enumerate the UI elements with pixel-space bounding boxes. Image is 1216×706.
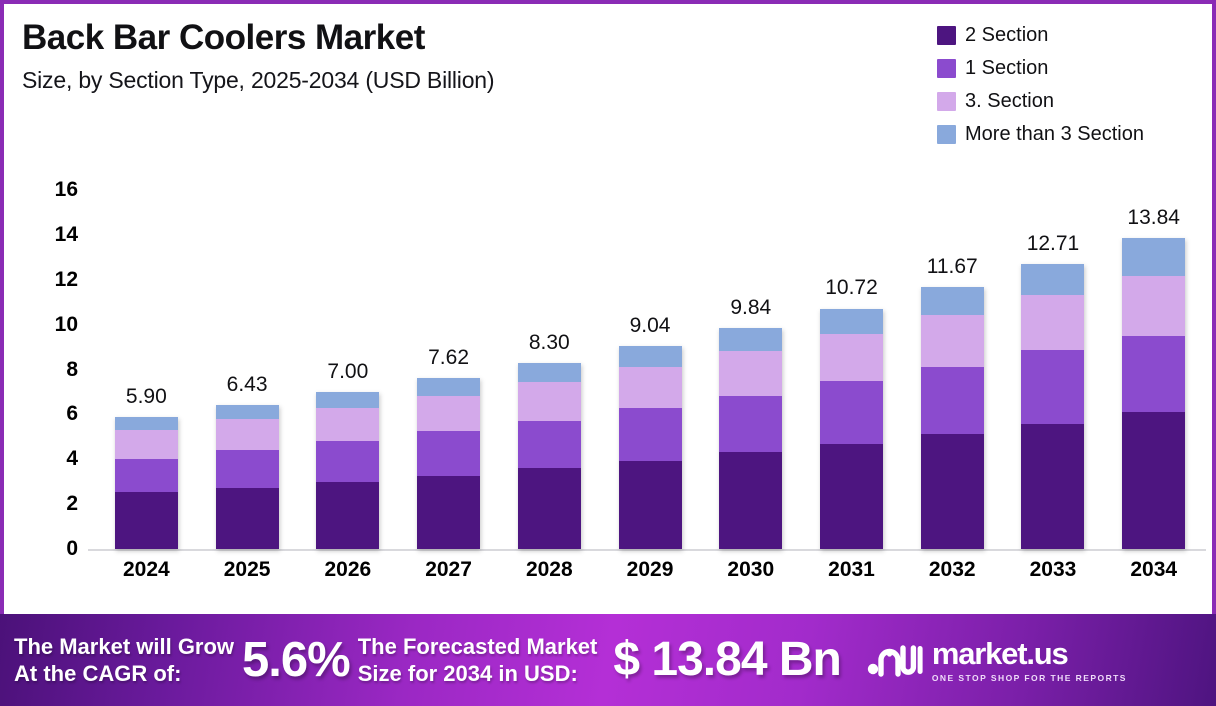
- bar-segment[interactable]: [820, 381, 883, 443]
- bar-segment[interactable]: [719, 452, 782, 549]
- cagr-caption-line1: The Market will Grow: [14, 633, 234, 660]
- bar-stack[interactable]: [1021, 264, 1084, 549]
- bar-segment[interactable]: [921, 367, 984, 434]
- bar-total-label: 6.43: [197, 373, 298, 397]
- y-axis-tick-label: 10: [55, 313, 78, 337]
- x-axis-tick-label: 2024: [96, 558, 197, 582]
- bar-total-label: 13.84: [1103, 206, 1204, 230]
- bar-column[interactable]: 7.00: [297, 190, 398, 549]
- bar-total-label: 9.04: [600, 314, 701, 338]
- y-axis-tick-label: 6: [66, 402, 78, 426]
- legend-item[interactable]: 2 Section: [937, 24, 1048, 47]
- y-axis-tick-label: 14: [55, 223, 78, 247]
- bar-total-label: 12.71: [1003, 232, 1104, 256]
- x-axis-tick-label: 2032: [902, 558, 1003, 582]
- bar-segment[interactable]: [518, 421, 581, 469]
- bar-segment[interactable]: [619, 408, 682, 461]
- page-title: Back Bar Coolers Market: [22, 20, 494, 57]
- bar-stack[interactable]: [115, 417, 178, 549]
- y-axis-tick-label: 0: [66, 537, 78, 561]
- bar-column[interactable]: 9.84: [700, 190, 801, 549]
- bar-segment[interactable]: [216, 450, 279, 488]
- market-us-logo[interactable]: market.us ONE STOP SHOP FOR THE REPORTS: [867, 638, 1127, 683]
- x-axis-tick-label: 2026: [297, 558, 398, 582]
- bar-column[interactable]: 6.43: [197, 190, 298, 549]
- cagr-value: 5.6%: [242, 636, 350, 685]
- bar-segment[interactable]: [921, 315, 984, 366]
- legend-swatch-icon: [937, 59, 956, 78]
- forecast-caption-line2: Size for 2034 in USD:: [358, 660, 598, 687]
- bar-total-label: 9.84: [700, 296, 801, 320]
- bar-segment[interactable]: [1021, 350, 1084, 424]
- y-axis-tick-label: 4: [66, 447, 78, 471]
- x-axis-tick-label: 2033: [1003, 558, 1104, 582]
- bar-segment[interactable]: [216, 488, 279, 549]
- bar-segment[interactable]: [417, 378, 480, 396]
- bar-segment[interactable]: [1122, 238, 1185, 276]
- y-axis-tick-label: 8: [66, 358, 78, 382]
- y-axis-tick-label: 2: [66, 492, 78, 516]
- chart-plot-area: 0246810121416 5.906.437.007.628.309.049.…: [4, 190, 1212, 590]
- bar-segment[interactable]: [316, 482, 379, 549]
- bar-segment[interactable]: [115, 492, 178, 549]
- bar-segment[interactable]: [921, 287, 984, 315]
- bar-segment[interactable]: [316, 441, 379, 482]
- bar-column[interactable]: 5.90: [96, 190, 197, 549]
- bar-column[interactable]: 10.72: [801, 190, 902, 549]
- x-axis: 2024202520262027202820292030203120322033…: [96, 558, 1204, 582]
- page-subtitle: Size, by Section Type, 2025-2034 (USD Bi…: [22, 67, 494, 94]
- bar-segment[interactable]: [417, 476, 480, 549]
- bar-segment[interactable]: [1122, 412, 1185, 549]
- x-axis-tick-label: 2029: [600, 558, 701, 582]
- bar-segment[interactable]: [1122, 336, 1185, 412]
- bar-segment[interactable]: [417, 396, 480, 431]
- bar-segment[interactable]: [518, 363, 581, 383]
- bar-stack[interactable]: [820, 309, 883, 550]
- x-axis-tick-label: 2034: [1103, 558, 1204, 582]
- bar-column[interactable]: 7.62: [398, 190, 499, 549]
- bar-total-label: 10.72: [801, 276, 902, 300]
- bar-segment[interactable]: [820, 334, 883, 382]
- bar-segment[interactable]: [417, 431, 480, 476]
- bar-stack[interactable]: [316, 392, 379, 549]
- x-axis-tick-label: 2028: [499, 558, 600, 582]
- bar-segment[interactable]: [619, 461, 682, 549]
- legend-item-label: More than 3 Section: [965, 123, 1144, 146]
- summary-banner: The Market will Grow At the CAGR of: 5.6…: [0, 614, 1216, 706]
- bar-segment[interactable]: [1122, 276, 1185, 335]
- legend-item-label: 2 Section: [965, 24, 1048, 47]
- bar-segment[interactable]: [115, 459, 178, 493]
- logo-name: market.us: [932, 638, 1127, 669]
- legend-swatch-icon: [937, 125, 956, 144]
- legend-swatch-icon: [937, 92, 956, 111]
- bar-stack[interactable]: [1122, 238, 1185, 549]
- bar-stack[interactable]: [216, 405, 279, 549]
- bar-segment[interactable]: [518, 468, 581, 549]
- legend-item[interactable]: 1 Section: [937, 57, 1048, 80]
- legend-item-label: 1 Section: [965, 57, 1048, 80]
- bar-segment[interactable]: [719, 351, 782, 396]
- bar-segment[interactable]: [1021, 424, 1084, 549]
- legend-item[interactable]: More than 3 Section: [937, 123, 1144, 146]
- bar-stack[interactable]: [619, 346, 682, 549]
- bar-segment[interactable]: [115, 430, 178, 458]
- bar-group: 5.906.437.007.628.309.049.8410.7211.6712…: [96, 190, 1204, 549]
- legend-item[interactable]: 3. Section: [937, 90, 1054, 113]
- logo-tagline: ONE STOP SHOP FOR THE REPORTS: [932, 673, 1127, 683]
- bar-segment[interactable]: [115, 417, 178, 431]
- x-axis-tick-label: 2027: [398, 558, 499, 582]
- bar-segment[interactable]: [216, 405, 279, 419]
- cagr-caption: The Market will Grow At the CAGR of:: [14, 633, 234, 688]
- bar-segment[interactable]: [921, 434, 984, 549]
- bar-segment[interactable]: [820, 444, 883, 549]
- cagr-caption-line2: At the CAGR of:: [14, 660, 234, 687]
- bar-stack[interactable]: [417, 378, 480, 549]
- bar-segment[interactable]: [316, 392, 379, 408]
- bar-total-label: 7.62: [398, 346, 499, 370]
- bar-column[interactable]: 13.84: [1103, 190, 1204, 549]
- chart-header: Back Bar Coolers Market Size, by Section…: [22, 20, 494, 94]
- market-us-mark-icon: [867, 640, 923, 680]
- y-axis-tick-label: 12: [55, 268, 78, 292]
- bar-column[interactable]: 11.67: [902, 190, 1003, 549]
- bar-segment[interactable]: [1021, 295, 1084, 351]
- bar-total-label: 7.00: [297, 360, 398, 384]
- bar-segment[interactable]: [1021, 264, 1084, 295]
- forecast-caption-line1: The Forecasted Market: [358, 633, 598, 660]
- infographic-page: Back Bar Coolers Market Size, by Section…: [0, 0, 1216, 706]
- forecast-caption: The Forecasted Market Size for 2034 in U…: [358, 633, 598, 688]
- bar-stack[interactable]: [719, 328, 782, 549]
- bar-total-label: 11.67: [902, 255, 1003, 279]
- bar-segment[interactable]: [719, 328, 782, 351]
- bar-segment[interactable]: [316, 408, 379, 441]
- bar-segment[interactable]: [619, 367, 682, 408]
- x-axis-tick-label: 2031: [801, 558, 902, 582]
- bar-total-label: 5.90: [96, 385, 197, 409]
- x-axis-tick-label: 2030: [700, 558, 801, 582]
- bar-segment[interactable]: [216, 419, 279, 450]
- bar-segment[interactable]: [820, 309, 883, 334]
- legend-swatch-icon: [937, 26, 956, 45]
- bar-segment[interactable]: [719, 396, 782, 452]
- bar-column[interactable]: 8.30: [499, 190, 600, 549]
- legend-item-label: 3. Section: [965, 90, 1054, 113]
- bar-stack[interactable]: [518, 363, 581, 549]
- bar-column[interactable]: 9.04: [600, 190, 701, 549]
- x-axis-tick-label: 2025: [197, 558, 298, 582]
- forecast-value: $ 13.84 Bn: [613, 636, 840, 684]
- bar-total-label: 8.30: [499, 331, 600, 355]
- bar-segment[interactable]: [518, 382, 581, 420]
- bar-column[interactable]: 12.71: [1003, 190, 1104, 549]
- x-axis-baseline: [88, 549, 1206, 551]
- bar-stack[interactable]: [921, 287, 984, 549]
- chart-legend: 2 Section1 Section3. SectionMore than 3 …: [937, 24, 1144, 146]
- bar-segment[interactable]: [619, 346, 682, 367]
- y-axis-tick-label: 16: [55, 178, 78, 202]
- market-us-wordmark: market.us ONE STOP SHOP FOR THE REPORTS: [932, 638, 1127, 683]
- y-axis: 0246810121416: [4, 190, 88, 550]
